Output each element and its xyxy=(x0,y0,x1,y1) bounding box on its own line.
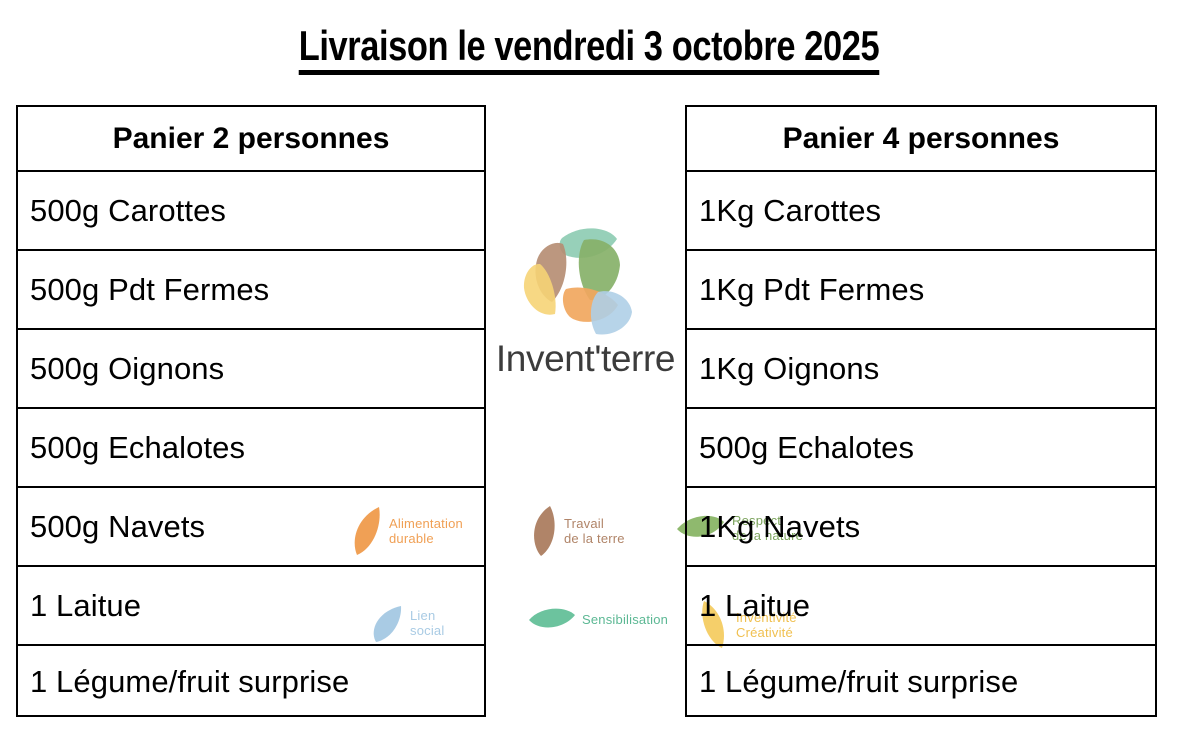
table-header-label: Panier 2 personnes xyxy=(113,122,390,156)
table-row: 1 Laitue xyxy=(687,567,1155,646)
petal-teal-icon xyxy=(560,228,617,258)
item-label: 1 Laitue xyxy=(18,588,141,624)
panier-4-personnes-table: Panier 4 personnes 1Kg Carottes 1Kg Pdt … xyxy=(685,105,1157,717)
panier-2-personnes-table: Panier 2 personnes 500g Carottes 500g Pd… xyxy=(16,105,486,717)
item-label: 500g Oignons xyxy=(18,351,224,387)
watermark-label: Sensibilisation xyxy=(582,612,668,627)
item-label: 500g Echalotes xyxy=(18,430,245,466)
table-row: 500g Navets xyxy=(18,488,484,567)
table-row: 500g Pdt Fermes xyxy=(18,251,484,330)
watermark-sensibilisation: Sensibilisation xyxy=(528,605,668,633)
table-row: 1Kg Carottes xyxy=(687,172,1155,251)
petal-blue-icon xyxy=(591,291,632,334)
table-row: 1Kg Pdt Fermes xyxy=(687,251,1155,330)
watermark-travail-de-la-terre: Travail de la terre xyxy=(528,505,625,557)
logo-wordmark: Invent'terre xyxy=(478,338,693,380)
table-row: 1 Légume/fruit surprise xyxy=(687,646,1155,718)
document-canvas: Livraison le vendredi 3 octobre 2025 Inv… xyxy=(0,0,1178,735)
item-label: 1 Laitue xyxy=(687,588,810,624)
item-label: 1 Légume/fruit surprise xyxy=(687,664,1018,700)
page-title-text: Livraison le vendredi 3 octobre 2025 xyxy=(299,24,880,75)
watermark-line1: Sensibilisation xyxy=(582,612,668,627)
petal-brown-icon xyxy=(535,243,566,302)
table-row: 500g Echalotes xyxy=(687,409,1155,488)
watermark-line1: Travail xyxy=(564,516,625,531)
petal-green-icon xyxy=(579,239,620,300)
table-header-row: Panier 2 personnes xyxy=(18,107,484,172)
item-label: 500g Echalotes xyxy=(687,430,914,466)
item-label: 500g Navets xyxy=(18,509,205,545)
table-row: 500g Carottes xyxy=(18,172,484,251)
table-row: 1Kg Navets xyxy=(687,488,1155,567)
item-label: 1Kg Pdt Fermes xyxy=(687,272,924,308)
logo-mark-icon xyxy=(518,222,643,342)
table-row: 1 Laitue xyxy=(18,567,484,646)
petal-orange-icon xyxy=(563,287,618,321)
item-label: 500g Pdt Fermes xyxy=(18,272,269,308)
table-row: 500g Echalotes xyxy=(18,409,484,488)
petal-yellow-icon xyxy=(524,264,556,315)
table-header-label: Panier 4 personnes xyxy=(783,122,1060,156)
item-label: 1Kg Carottes xyxy=(687,193,881,229)
item-label: 1Kg Oignons xyxy=(687,351,879,387)
leaf-brown-icon xyxy=(528,505,558,557)
item-label: 1Kg Navets xyxy=(687,509,860,545)
table-row: 1Kg Oignons xyxy=(687,330,1155,409)
watermark-label: Travail de la terre xyxy=(564,516,625,546)
table-row: 500g Oignons xyxy=(18,330,484,409)
watermark-line2: de la terre xyxy=(564,531,625,546)
item-label: 500g Carottes xyxy=(18,193,226,229)
table-header-row: Panier 4 personnes xyxy=(687,107,1155,172)
leaf-teal-icon xyxy=(528,605,576,633)
item-label: 1 Légume/fruit surprise xyxy=(18,664,349,700)
table-row: 1 Légume/fruit surprise xyxy=(18,646,484,718)
page-title: Livraison le vendredi 3 octobre 2025 xyxy=(106,22,1072,75)
inventterre-logo: Invent'terre xyxy=(478,222,693,397)
